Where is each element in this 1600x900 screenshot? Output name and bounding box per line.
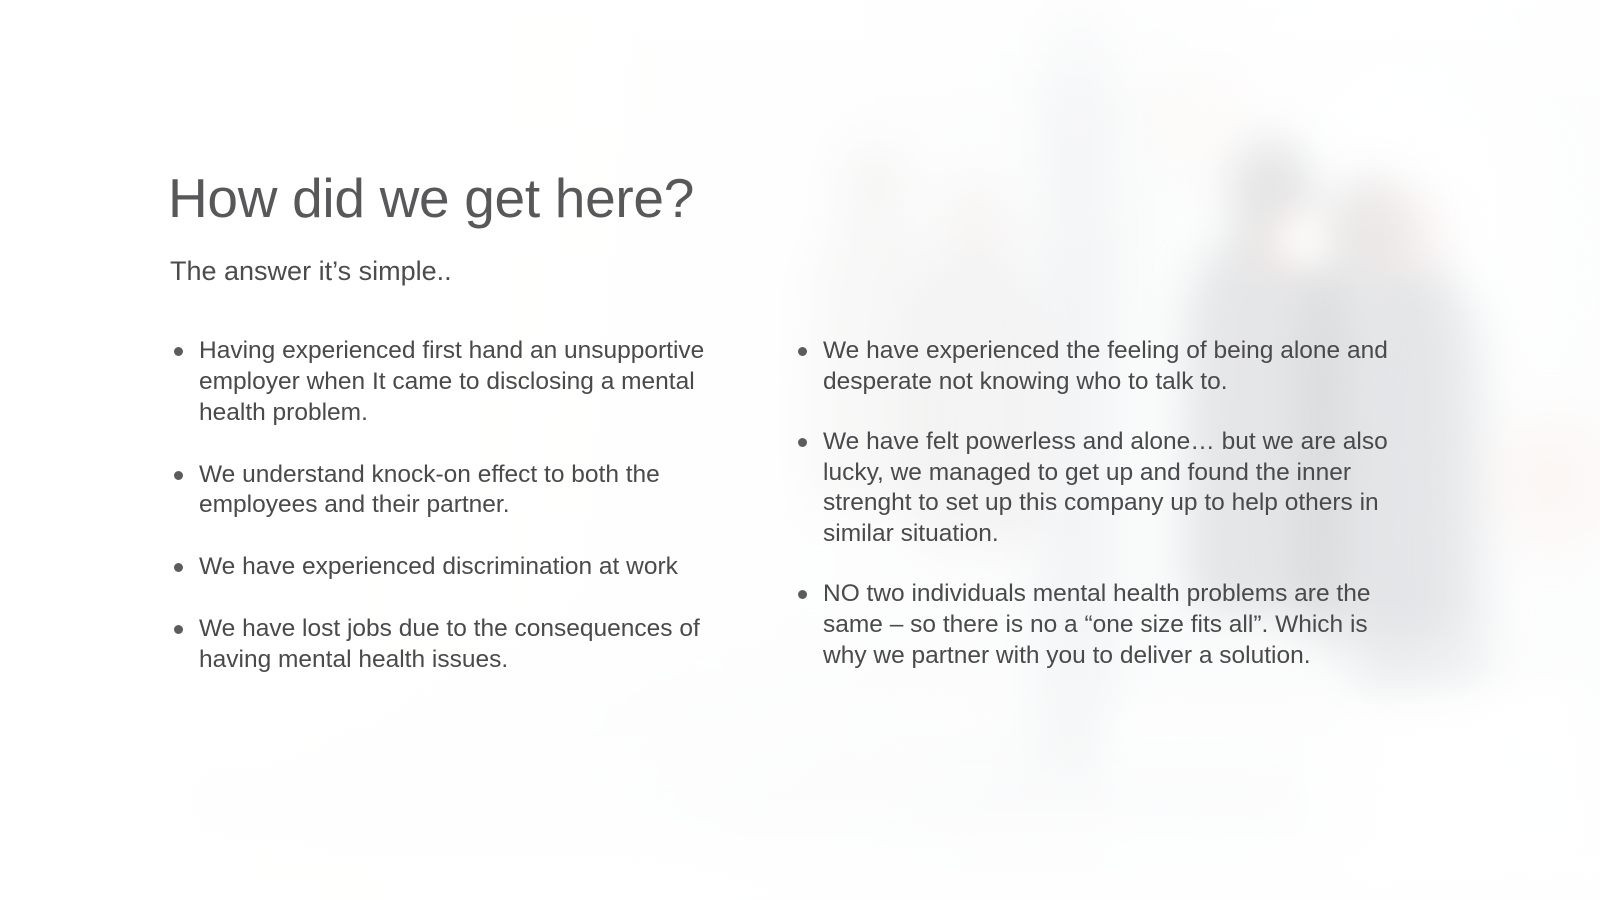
list-item: We have lost jobs due to the consequence… <box>168 614 724 676</box>
list-item: We have experienced discrimination at wo… <box>168 552 724 583</box>
bullet-text: We have felt powerless and alone… but we… <box>823 428 1388 548</box>
left-bullet-list: Having experienced first hand an unsuppo… <box>168 336 724 676</box>
bullet-text: We have experienced the feeling of being… <box>823 337 1388 395</box>
left-bullet-column: Having experienced first hand an unsuppo… <box>168 336 724 676</box>
right-bullet-column: We have experienced the feeling of being… <box>792 336 1392 701</box>
list-item: We understand knock-on effect to both th… <box>168 460 724 522</box>
bullet-text: We have experienced discrimination at wo… <box>199 553 678 580</box>
bullet-text: NO two individuals mental health problem… <box>823 580 1370 669</box>
list-item: NO two individuals mental health problem… <box>792 579 1392 672</box>
slide-subtitle: The answer it’s simple.. <box>170 256 452 287</box>
list-item: We have experienced the feeling of being… <box>792 336 1392 398</box>
bullet-text: We have lost jobs due to the consequence… <box>199 615 700 673</box>
bullet-text: Having experienced first hand an unsuppo… <box>199 337 704 426</box>
right-bullet-list: We have experienced the feeling of being… <box>792 336 1392 672</box>
presentation-slide: How did we get here? The answer it’s sim… <box>0 0 1600 900</box>
slide-content: How did we get here? The answer it’s sim… <box>0 0 1600 900</box>
list-item: We have felt powerless and alone… but we… <box>792 427 1392 550</box>
slide-title: How did we get here? <box>168 166 694 230</box>
list-item: Having experienced first hand an unsuppo… <box>168 336 724 429</box>
bullet-text: We understand knock-on effect to both th… <box>199 461 660 519</box>
